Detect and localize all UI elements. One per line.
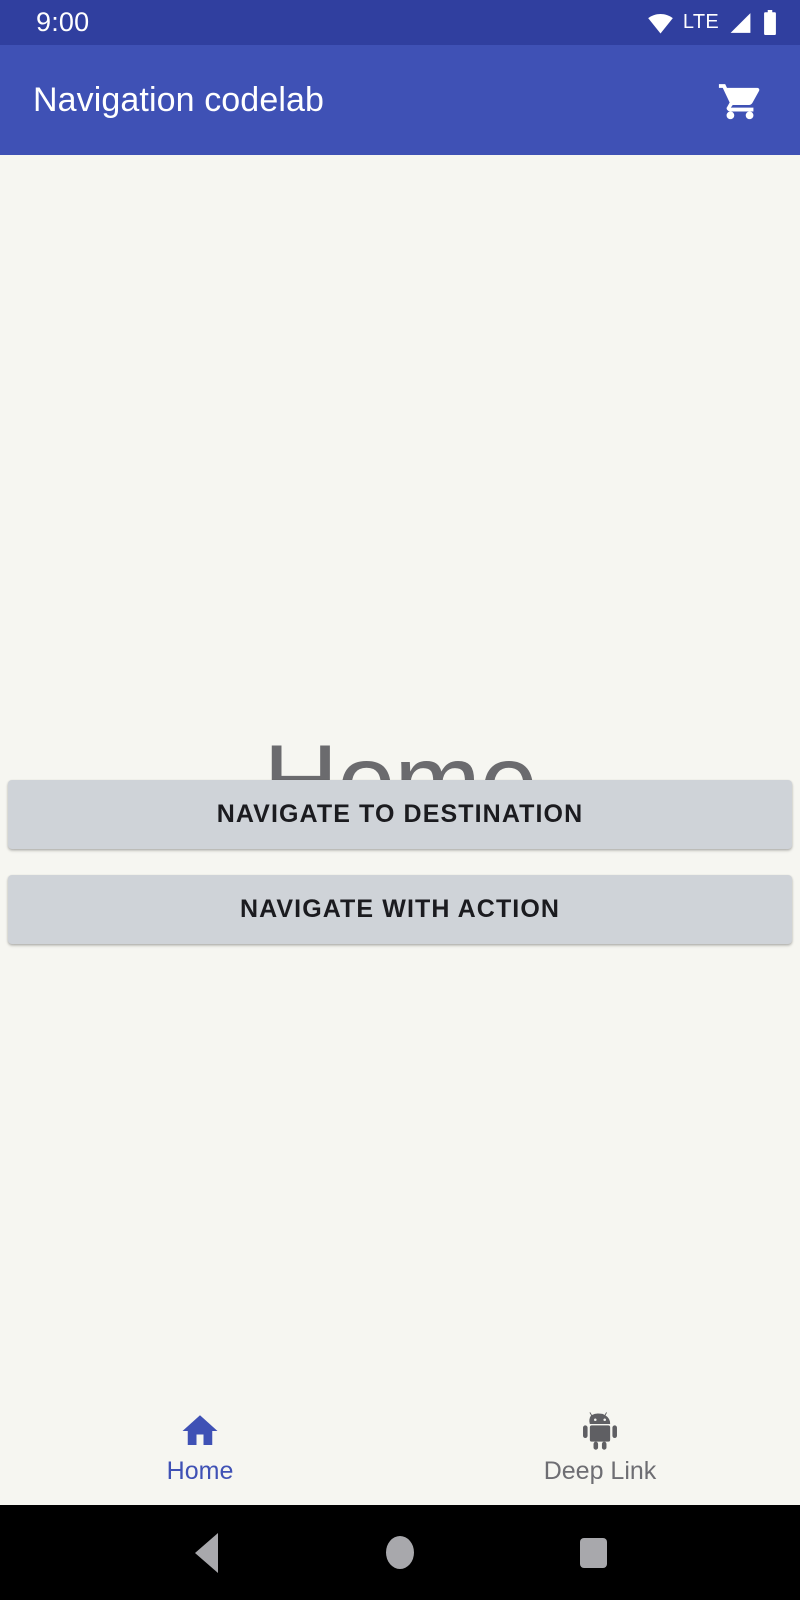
action-button-stack: Navigate to destination Navigate with ac… <box>0 780 800 944</box>
home-button[interactable] <box>363 1516 437 1590</box>
app-bar-title: Navigation codelab <box>33 81 324 120</box>
content-area: Home Navigate to destination Navigate wi… <box>0 155 800 1395</box>
app-bar: Navigation codelab <box>0 45 800 155</box>
network-type-label: LTE <box>683 11 719 34</box>
android-robot-icon <box>579 1410 621 1452</box>
bottom-nav-item-deep-link[interactable]: Deep Link <box>400 1410 800 1484</box>
back-button[interactable] <box>170 1516 244 1590</box>
phone-screen: 9:00 LTE Navigation codelab Home <box>0 0 800 1600</box>
app-bar-actions <box>708 68 772 132</box>
system-navigation-bar <box>0 1505 800 1600</box>
status-bar-icons: LTE <box>647 10 778 35</box>
navigate-to-destination-button[interactable]: Navigate to destination <box>8 780 792 849</box>
cart-icon[interactable] <box>708 68 772 132</box>
bottom-nav-item-home[interactable]: Home <box>0 1410 400 1484</box>
bottom-nav-label-deep-link: Deep Link <box>544 1459 657 1484</box>
navigate-with-action-button[interactable]: Navigate with action <box>8 875 792 944</box>
recents-button[interactable] <box>556 1516 630 1590</box>
battery-icon <box>762 10 778 35</box>
bottom-navigation-bar: Home Deep Link <box>0 1395 800 1505</box>
status-bar: 9:00 LTE <box>0 0 800 45</box>
home-circle-icon <box>386 1536 414 1569</box>
recents-square-icon <box>580 1538 607 1568</box>
bottom-nav-label-home: Home <box>167 1459 234 1484</box>
back-triangle-icon <box>195 1533 218 1573</box>
status-bar-clock: 9:00 <box>36 9 89 36</box>
home-icon <box>179 1410 221 1452</box>
signal-icon <box>728 12 753 34</box>
wifi-icon <box>647 12 674 34</box>
